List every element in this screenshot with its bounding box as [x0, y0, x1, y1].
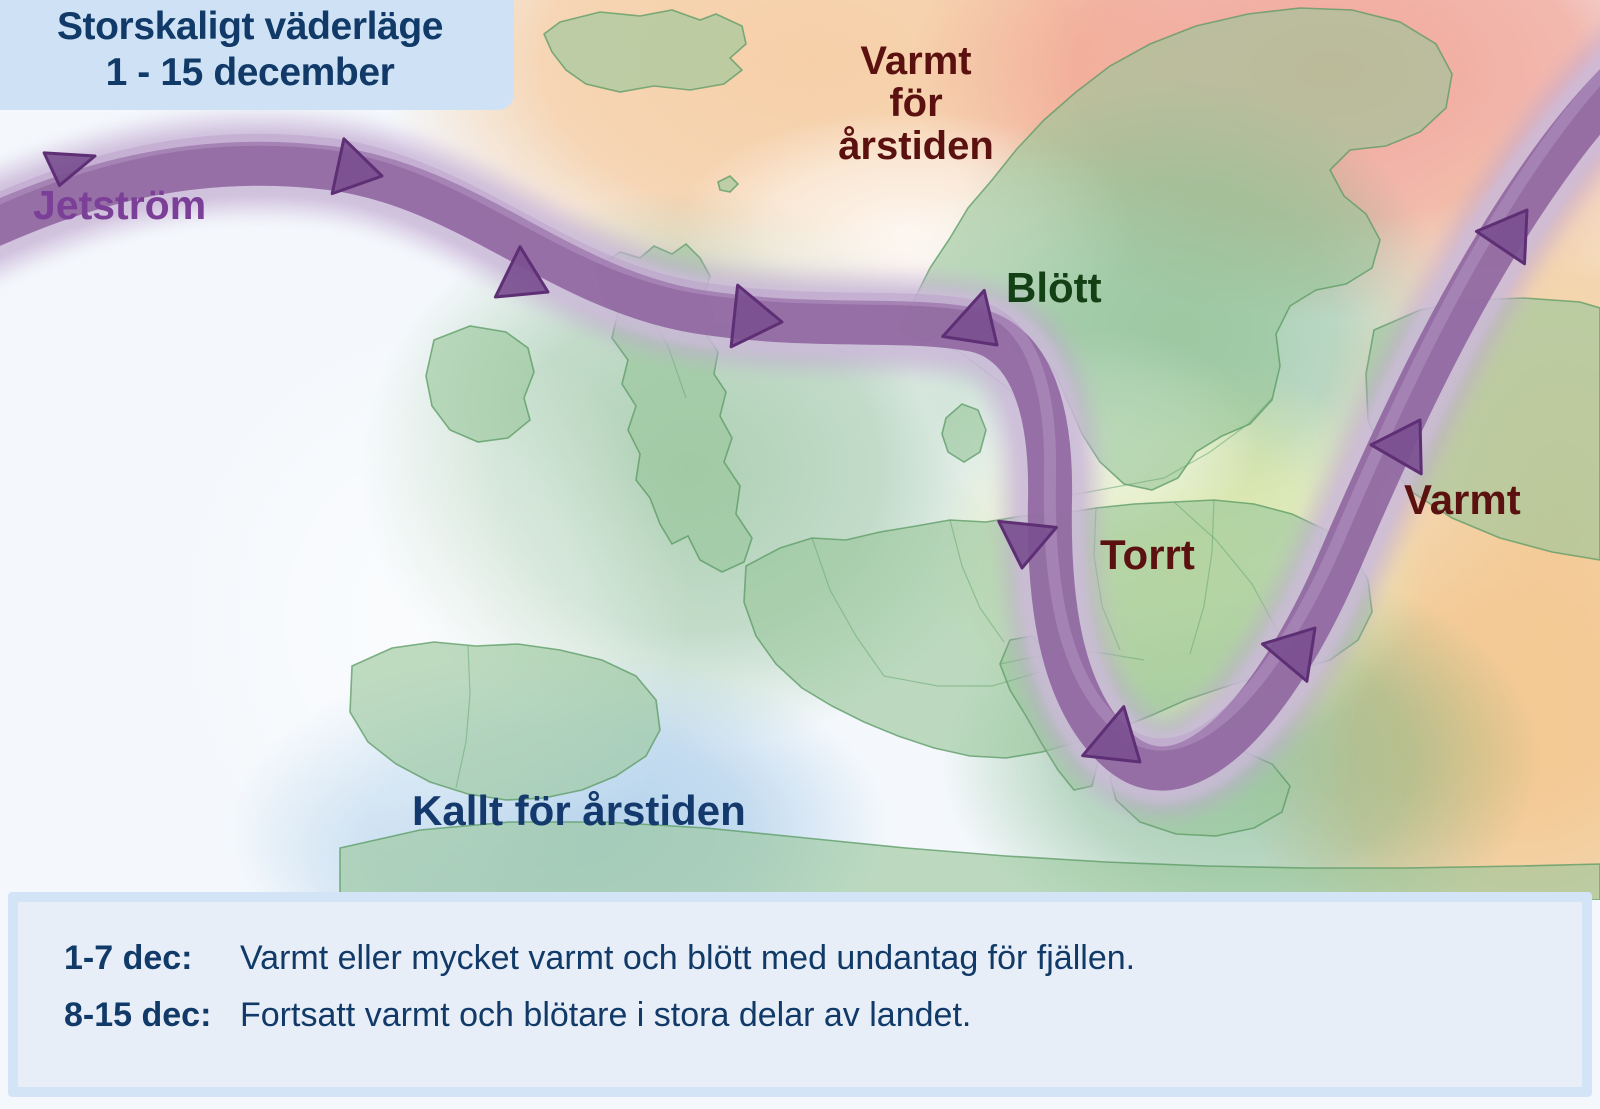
- label-warm: Varmt: [1404, 478, 1521, 523]
- summary-row-description: Fortsatt varmt och blötare i stora delar…: [240, 996, 971, 1034]
- label-warm-for-season-line2: för: [812, 82, 1020, 124]
- label-warm-for-season-line3: årstiden: [812, 125, 1020, 167]
- summary-row-description: Varmt eller mycket varmt och blött med u…: [240, 939, 1135, 977]
- label-cold-for-season: Kallt för årstiden: [412, 789, 746, 834]
- title-line-2: 1 - 15 december: [4, 50, 496, 96]
- title-line-1: Storskaligt väderläge: [4, 4, 496, 50]
- label-warm-for-season: Varmt för årstiden: [812, 40, 1020, 167]
- summary-row: 1-7 dec:Varmt eller mycket varmt och blö…: [64, 930, 1562, 987]
- weather-outlook-infographic: Jetström Varmt för årstiden Blött Torrt …: [0, 0, 1600, 1109]
- label-dry: Torrt: [1100, 533, 1195, 578]
- summary-row-term: 8-15 dec:: [64, 987, 240, 1044]
- summary-row: 8-15 dec:Fortsatt varmt och blötare i st…: [64, 987, 1562, 1044]
- label-warm-for-season-line1: Varmt: [812, 40, 1020, 82]
- label-wet: Blött: [1006, 266, 1102, 311]
- jetstream-layer: [0, 0, 1600, 900]
- summary-panel: 1-7 dec:Varmt eller mycket varmt och blö…: [8, 892, 1592, 1097]
- title-card: Storskaligt väderläge 1 - 15 december: [0, 0, 514, 110]
- label-jetstream: Jetström: [33, 184, 206, 227]
- summary-row-term: 1-7 dec:: [64, 930, 240, 987]
- summary-rows: 1-7 dec:Varmt eller mycket varmt och blö…: [64, 930, 1562, 1044]
- europe-weather-map: Jetström Varmt för årstiden Blött Torrt …: [0, 0, 1600, 900]
